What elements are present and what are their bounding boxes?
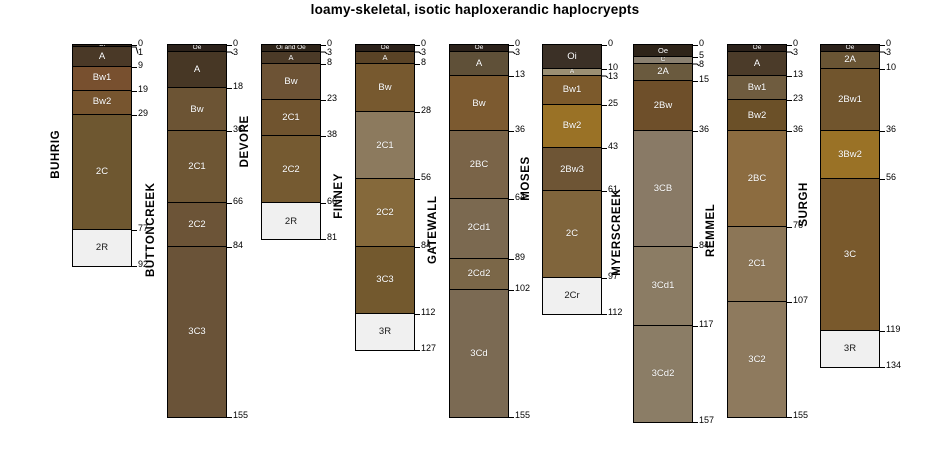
soil-horizon: 3Cd bbox=[450, 290, 508, 417]
soil-horizon: Bw1 bbox=[728, 76, 786, 100]
soil-horizon: A bbox=[73, 47, 131, 66]
soil-column: OeABw1Bw22BC2C13C2 bbox=[727, 44, 787, 418]
soil-column: Oi and OeABw2C12C22R bbox=[261, 44, 321, 240]
soil-horizon: 2Bw3 bbox=[543, 148, 601, 191]
tick-line bbox=[601, 148, 607, 149]
horizon-label: Bw2 bbox=[748, 111, 766, 121]
tick-line bbox=[131, 230, 137, 231]
horizon-label: 3Bw2 bbox=[838, 150, 862, 160]
tick-line bbox=[508, 417, 514, 418]
profile-label: MYERSCREEK bbox=[611, 44, 629, 421]
tick-line bbox=[226, 203, 232, 204]
horizon-label: Oe bbox=[475, 45, 484, 51]
depth-tick-label: 8 bbox=[327, 58, 332, 67]
profile-label: GATEWALL bbox=[427, 44, 445, 416]
depth-tick-label: 9 bbox=[138, 61, 143, 70]
horizon-label: Oe bbox=[381, 45, 390, 51]
horizon-label: 2C1 bbox=[282, 113, 299, 123]
horizon-label: 2C1 bbox=[748, 259, 765, 269]
profile-label: REMMEL bbox=[705, 44, 723, 416]
soil-horizon: A bbox=[262, 52, 320, 64]
tick-line bbox=[786, 131, 792, 132]
horizon-label: 3C2 bbox=[748, 355, 765, 365]
horizon-label: Bw1 bbox=[563, 85, 581, 95]
soil-horizon: Bw1 bbox=[73, 67, 131, 91]
tick-line bbox=[601, 45, 607, 46]
soil-horizon: 3CB bbox=[634, 131, 692, 246]
horizon-label: 2C bbox=[566, 229, 578, 239]
soil-horizon: Oe bbox=[821, 45, 879, 52]
soil-column: OiABw1Bw22C2R bbox=[72, 44, 132, 267]
horizon-label: A bbox=[754, 59, 760, 69]
horizon-label: Bw2 bbox=[93, 97, 111, 107]
horizon-label: A bbox=[382, 54, 387, 62]
tick-line bbox=[414, 179, 420, 180]
soil-horizon: 3Cd1 bbox=[634, 247, 692, 326]
tick-line bbox=[692, 81, 698, 82]
tick-line bbox=[320, 239, 326, 240]
soil-horizon: A bbox=[728, 52, 786, 76]
soil-horizon: 2Cd2 bbox=[450, 259, 508, 290]
tick-line bbox=[786, 76, 792, 77]
horizon-label: 3Cd1 bbox=[652, 281, 675, 291]
depth-tick-label: 3 bbox=[327, 48, 332, 57]
horizon-label: A bbox=[99, 52, 105, 62]
horizon-label: 2C2 bbox=[376, 208, 393, 218]
soil-horizon: 2Cd1 bbox=[450, 199, 508, 259]
tick-line bbox=[131, 266, 137, 267]
tick-line bbox=[786, 417, 792, 418]
depth-tick-label: 8 bbox=[421, 58, 426, 67]
horizon-label: 2C1 bbox=[188, 162, 205, 172]
tick-line bbox=[320, 136, 326, 137]
tick-line bbox=[692, 247, 698, 248]
horizon-label: A bbox=[194, 65, 200, 75]
horizon-label: 3R bbox=[844, 344, 856, 354]
soil-horizon: 2R bbox=[262, 203, 320, 239]
horizon-label: 2Cr bbox=[564, 291, 579, 301]
depth-tick-label: 157 bbox=[699, 416, 714, 425]
horizon-label: Bw bbox=[472, 99, 485, 109]
soil-horizon: 2C1 bbox=[168, 131, 226, 203]
soil-horizon: 2C2 bbox=[168, 203, 226, 246]
horizon-label: 2Cd1 bbox=[468, 223, 491, 233]
tick-line bbox=[879, 131, 885, 132]
tick-line bbox=[692, 57, 698, 58]
horizon-label: Bw bbox=[378, 83, 391, 93]
tick-line bbox=[601, 69, 607, 70]
profile-label: FINNEY bbox=[333, 44, 351, 349]
tick-line bbox=[508, 290, 514, 291]
soil-horizon: 3Cd2 bbox=[634, 326, 692, 422]
soil-column: Oe2A2Bw13Bw23C3R bbox=[820, 44, 880, 368]
depth-tick-label: 0 bbox=[699, 39, 704, 48]
tick-line bbox=[131, 91, 137, 92]
soil-horizon: A bbox=[356, 52, 414, 64]
horizon-label: Oe bbox=[658, 47, 668, 55]
horizon-label: 3C3 bbox=[376, 275, 393, 285]
soil-horizon: Bw bbox=[450, 76, 508, 131]
tick-line bbox=[131, 67, 137, 68]
soil-horizon: 2BC bbox=[728, 131, 786, 227]
tick-line bbox=[692, 422, 698, 423]
soil-horizon: A bbox=[543, 69, 601, 76]
soil-horizon: Bw bbox=[356, 64, 414, 112]
horizon-label: Bw1 bbox=[748, 83, 766, 93]
soil-horizon: 2C1 bbox=[262, 100, 320, 136]
horizon-label: 3CB bbox=[654, 184, 672, 194]
horizon-label: 3C bbox=[844, 250, 856, 260]
profile-label: BUHRIG bbox=[50, 44, 68, 265]
soil-horizon: 2C2 bbox=[262, 136, 320, 203]
soil-horizon: 2C bbox=[73, 115, 131, 230]
tick-line bbox=[226, 88, 232, 89]
tick-line bbox=[508, 76, 514, 77]
horizon-label: 2C2 bbox=[188, 220, 205, 230]
soil-horizon: 2C bbox=[543, 191, 601, 277]
depth-tick-label: 155 bbox=[793, 411, 808, 420]
horizon-label: Bw1 bbox=[93, 73, 111, 83]
soil-horizon: Bw2 bbox=[728, 100, 786, 131]
tick-line bbox=[601, 314, 607, 315]
tick-line bbox=[508, 131, 514, 132]
depth-tick-label: 1 bbox=[138, 48, 143, 57]
soil-horizon: Bw bbox=[168, 88, 226, 131]
horizon-label: 2Bw bbox=[654, 101, 672, 111]
soil-horizon: 3R bbox=[821, 331, 879, 367]
page-title: loamy-skeletal, isotic haploxerandic hap… bbox=[0, 2, 950, 17]
horizon-label: 3C3 bbox=[188, 327, 205, 337]
tick-line bbox=[320, 64, 326, 65]
soil-horizon: 2C1 bbox=[728, 227, 786, 301]
soil-column: OeABw2C12C23C3 bbox=[167, 44, 227, 418]
soil-horizon: 3C bbox=[821, 179, 879, 330]
horizon-label: Oe bbox=[193, 45, 202, 51]
depth-tick-label: 134 bbox=[886, 361, 901, 370]
horizon-label: 2Bw1 bbox=[838, 95, 862, 105]
soil-horizon: 3C3 bbox=[356, 247, 414, 314]
depth-tick-label: 56 bbox=[886, 173, 896, 182]
soil-horizon: A bbox=[450, 52, 508, 76]
horizon-label: 2C2 bbox=[282, 165, 299, 175]
soil-horizon: Oe bbox=[634, 45, 692, 57]
horizon-label: 2C1 bbox=[376, 141, 393, 151]
soil-horizon: Bw bbox=[262, 64, 320, 100]
soil-horizon: 2C2 bbox=[356, 179, 414, 246]
depth-tick-label: 3 bbox=[233, 48, 238, 57]
tick-line bbox=[786, 100, 792, 101]
soil-horizon: Oi and Oe bbox=[262, 45, 320, 52]
tick-line bbox=[879, 367, 885, 368]
tick-line bbox=[508, 199, 514, 200]
soil-horizon: 2Bw bbox=[634, 81, 692, 131]
tick-line bbox=[320, 203, 326, 204]
tick-line bbox=[131, 115, 137, 116]
tick-line bbox=[226, 247, 232, 248]
profile-label: DEVORE bbox=[239, 44, 257, 238]
depth-tick-label: 10 bbox=[886, 63, 896, 72]
soil-horizon: 3C2 bbox=[728, 302, 786, 417]
tick-line bbox=[414, 350, 420, 351]
tick-line bbox=[320, 45, 326, 46]
tick-line bbox=[879, 45, 885, 46]
horizon-label: 2BC bbox=[470, 160, 488, 170]
horizon-label: Oe bbox=[753, 45, 762, 51]
tick-line bbox=[226, 417, 232, 418]
soil-horizon: Oe bbox=[356, 45, 414, 52]
tick-line bbox=[692, 131, 698, 132]
tick-line bbox=[692, 326, 698, 327]
tick-line bbox=[601, 191, 607, 192]
tick-line bbox=[879, 179, 885, 180]
soil-horizon: 2BC bbox=[450, 131, 508, 198]
profile-label: BUTTONCREEK bbox=[145, 44, 163, 416]
tick-line bbox=[786, 45, 792, 46]
horizon-label: Oe bbox=[846, 45, 855, 51]
horizon-label: Bw2 bbox=[563, 121, 581, 131]
soil-horizon: 2Bw1 bbox=[821, 69, 879, 131]
tick-line bbox=[879, 69, 885, 70]
soil-horizon: Oe bbox=[728, 45, 786, 52]
soil-horizon: 3Bw2 bbox=[821, 131, 879, 179]
tick-line bbox=[786, 302, 792, 303]
tick-line bbox=[414, 45, 420, 46]
soil-column: OeABw2C12C23C33R bbox=[355, 44, 415, 351]
horizon-label: 2R bbox=[285, 217, 297, 227]
horizon-label: 3Cd2 bbox=[652, 369, 675, 379]
soil-horizon: Bw2 bbox=[543, 105, 601, 148]
tick-line bbox=[414, 247, 420, 248]
horizon-label: 2C bbox=[96, 167, 108, 177]
horizon-label: A bbox=[570, 69, 574, 75]
horizon-label: 2Bw3 bbox=[560, 165, 584, 175]
soil-horizon: 2C1 bbox=[356, 112, 414, 179]
depth-tick-label: 155 bbox=[233, 411, 248, 420]
horizon-label: 3Cd bbox=[470, 349, 487, 359]
tick-line bbox=[131, 45, 137, 46]
tick-line bbox=[879, 331, 885, 332]
depth-tick-label: 8 bbox=[699, 60, 704, 69]
soil-horizon: 2Cr bbox=[543, 278, 601, 314]
soil-horizon: 3R bbox=[356, 314, 414, 350]
tick-line bbox=[692, 45, 698, 46]
depth-tick-label: 84 bbox=[233, 241, 243, 250]
soil-column: OeC2A2Bw3CB3Cd13Cd2 bbox=[633, 44, 693, 423]
tick-line bbox=[226, 45, 232, 46]
horizon-label: 2Cd2 bbox=[468, 269, 491, 279]
tick-line bbox=[601, 278, 607, 279]
horizon-label: A bbox=[476, 59, 482, 69]
tick-line bbox=[414, 314, 420, 315]
soil-horizon: Bw1 bbox=[543, 76, 601, 105]
depth-tick-label: 155 bbox=[515, 411, 530, 420]
tick-line bbox=[320, 100, 326, 101]
soil-horizon: Oi bbox=[543, 45, 601, 69]
tick-line bbox=[414, 64, 420, 65]
soil-column: OeABw2BC2Cd12Cd23Cd bbox=[449, 44, 509, 418]
horizon-label: 2A bbox=[844, 55, 856, 65]
horizon-label: C bbox=[661, 57, 666, 63]
profile-label: SURGH bbox=[798, 44, 816, 366]
soil-horizon: Oe bbox=[450, 45, 508, 52]
depth-tick-label: 3 bbox=[886, 48, 891, 57]
horizon-label: A bbox=[288, 54, 293, 62]
soil-horizon: A bbox=[168, 52, 226, 88]
tick-line bbox=[508, 45, 514, 46]
tick-line bbox=[508, 259, 514, 260]
profile-label: MOSES bbox=[520, 44, 538, 313]
depth-tick-label: 119 bbox=[886, 325, 900, 334]
horizon-label: Oi and Oe bbox=[276, 45, 306, 51]
tick-line bbox=[601, 105, 607, 106]
depth-tick-label: 3 bbox=[421, 48, 426, 57]
soil-horizon: Bw2 bbox=[73, 91, 131, 115]
tick-line bbox=[786, 227, 792, 228]
horizon-label: 2A bbox=[657, 67, 669, 77]
soil-horizon: 2A bbox=[634, 64, 692, 81]
horizon-label: Oi bbox=[567, 52, 577, 62]
soil-horizon: 2R bbox=[73, 230, 131, 266]
horizon-label: 2R bbox=[96, 243, 108, 253]
soil-horizon: Oe bbox=[168, 45, 226, 52]
horizon-label: 2BC bbox=[748, 174, 766, 184]
horizon-label: Bw bbox=[190, 105, 203, 115]
horizon-label: 3R bbox=[379, 327, 391, 337]
soil-horizon: C bbox=[634, 57, 692, 64]
horizon-label: Bw bbox=[284, 77, 297, 87]
tick-line bbox=[226, 131, 232, 132]
tick-line bbox=[414, 112, 420, 113]
depth-tick-label: 36 bbox=[886, 125, 896, 134]
soil-column: OiABw1Bw22Bw32C2Cr bbox=[542, 44, 602, 315]
soil-horizon: 3C3 bbox=[168, 247, 226, 417]
soil-horizon: 2A bbox=[821, 52, 879, 69]
